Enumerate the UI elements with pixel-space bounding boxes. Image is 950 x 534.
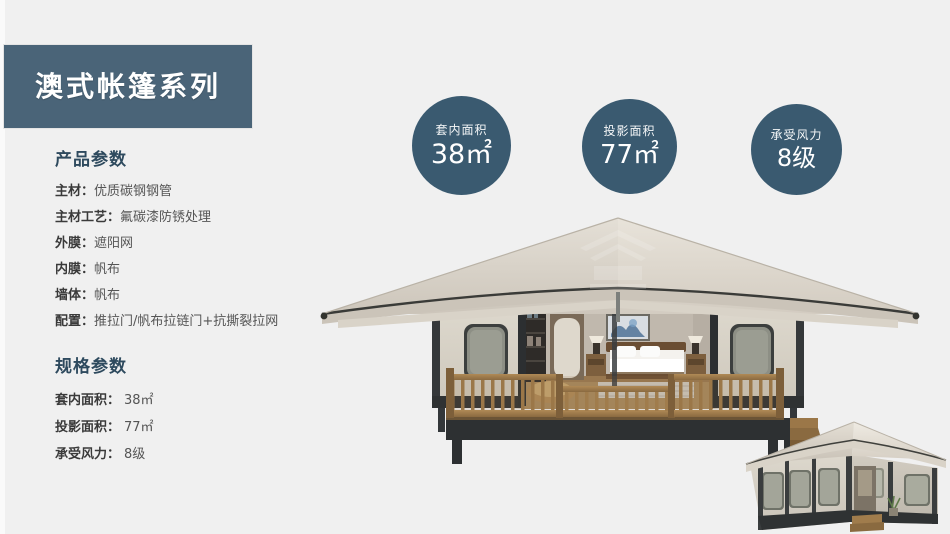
param-label: 主材： [55, 184, 94, 199]
product-section-heading: 产品参数 [55, 150, 340, 170]
stat-label: 套内面积 [435, 124, 487, 136]
title-banner: 澳式帐篷系列 [4, 45, 252, 128]
param-value: 氟碳漆防锈处理 [120, 210, 211, 225]
stat-number: 38 [431, 139, 465, 170]
param-value: 帆布 [94, 262, 120, 277]
spec-section-heading: 规格参数 [55, 357, 340, 377]
stat-label: 承受风力 [770, 129, 822, 141]
stat-number: 77 [600, 140, 633, 170]
spec-panel: 产品参数 主材：优质碳钢钢管 主材工艺：氟碳漆防锈处理 外膜：遮阳网 内膜：帆布… [0, 150, 340, 468]
list-item: 墙体：帆布 [55, 283, 340, 309]
spec-label: 投影面积： [55, 420, 120, 435]
small-tent-windows-left [762, 468, 840, 510]
page-title: 澳式帐篷系列 [35, 73, 221, 101]
deck-railing-left [446, 368, 560, 418]
list-item: 主材：优质碳钢钢管 [55, 179, 340, 205]
list-item: 承受风力：8级 [55, 441, 340, 468]
param-value: 帆布 [94, 288, 120, 303]
stat-unit: ㎡ [633, 140, 659, 170]
small-tent-illustration [742, 412, 950, 534]
list-item: 外膜：遮阳网 [55, 231, 340, 257]
small-tent-svg [742, 412, 950, 534]
list-item: 套内面积：38㎡ [55, 387, 340, 414]
stat-unit: ㎡ [465, 139, 492, 170]
spec-value: 8级 [120, 447, 145, 462]
param-value: 推拉门/帆布拉链门+抗撕裂拉网 [94, 314, 278, 329]
tent-roof [321, 218, 920, 328]
spec-label: 套内面积： [55, 393, 120, 408]
stat-number: 8级 [777, 144, 816, 172]
section-divider [0, 335, 340, 357]
list-item: 配置：推拉门/帆布拉链门+抗撕裂拉网 [55, 309, 340, 335]
spec-value: 77㎡ [120, 420, 154, 435]
list-item: 内膜：帆布 [55, 257, 340, 283]
param-label: 外膜： [55, 236, 94, 251]
product-param-list: 主材：优质碳钢钢管 主材工艺：氟碳漆防锈处理 外膜：遮阳网 内膜：帆布 墙体：帆… [0, 179, 340, 335]
spec-value: 38㎡ [120, 393, 154, 408]
list-item: 主材工艺：氟碳漆防锈处理 [55, 205, 340, 231]
slide-canvas: 澳式帐篷系列 产品参数 主材：优质碳钢钢管 主材工艺：氟碳漆防锈处理 外膜：遮阳… [0, 0, 950, 534]
param-label: 内膜： [55, 262, 94, 277]
param-value: 遮阳网 [94, 236, 133, 251]
param-value: 优质碳钢钢管 [94, 184, 172, 199]
spec-label: 承受风力： [55, 447, 120, 462]
param-label: 墙体： [55, 288, 94, 303]
stat-value: 77㎡ [600, 142, 659, 168]
small-tent-steps [850, 514, 884, 532]
stat-value: 8级 [777, 146, 816, 170]
stat-circle-interior-area: 套内面积 38㎡ [412, 96, 511, 195]
list-item: 投影面积：77㎡ [55, 414, 340, 441]
spec-param-list: 套内面积：38㎡ 投影面积：77㎡ 承受风力：8级 [0, 387, 340, 468]
param-label: 配置： [55, 314, 94, 329]
stat-label: 投影面积 [603, 125, 655, 137]
stat-circle-projected-area: 投影面积 77㎡ [582, 99, 677, 194]
param-label: 主材工艺： [55, 210, 120, 225]
stat-value: 38㎡ [431, 141, 492, 168]
stat-circle-wind-resistance: 承受风力 8级 [751, 104, 842, 195]
